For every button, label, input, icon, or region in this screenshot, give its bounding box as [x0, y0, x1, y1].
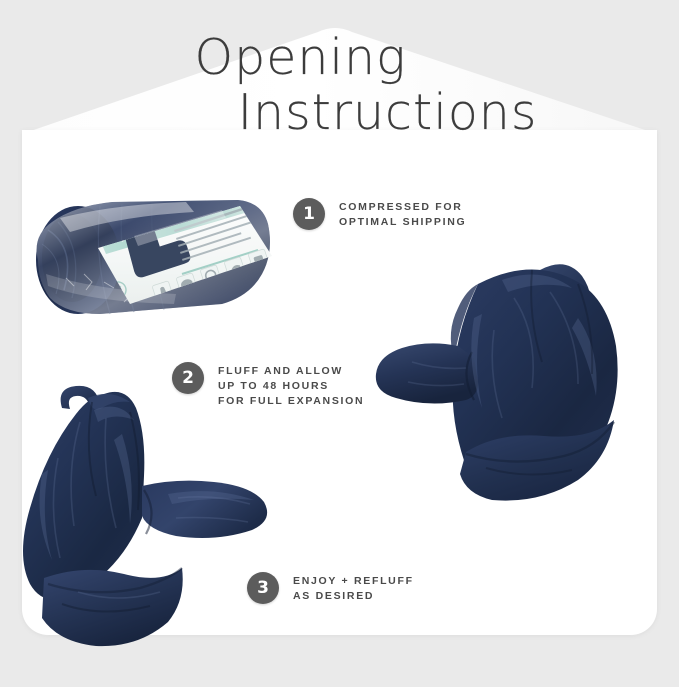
step-1: 1 COMPRESSED FOR OPTIMAL SHIPPING	[293, 198, 466, 230]
step-2-text: FLUFF AND ALLOW UP TO 48 HOURS FOR FULL …	[218, 362, 364, 410]
backdrop-roof	[22, 22, 657, 134]
step-2-line-3: FOR FULL EXPANSION	[218, 394, 364, 409]
infographic-canvas: Opening Instructions	[0, 0, 679, 687]
step-2-badge: 2	[172, 362, 204, 394]
step-1-badge: 1	[293, 198, 325, 230]
step-2-line-1: FLUFF AND ALLOW	[218, 364, 364, 379]
step-1-line-2: OPTIMAL SHIPPING	[339, 215, 466, 230]
step-3-badge: 3	[247, 572, 279, 604]
product-image-expanded-pillow-left	[18, 378, 278, 648]
step-3-line-2: AS DESIRED	[293, 589, 414, 604]
step-2-line-2: UP TO 48 HOURS	[218, 379, 364, 394]
product-image-expanded-pillow-right	[382, 222, 632, 502]
product-image-compressed-package: READING PILLOW	[26, 178, 274, 318]
step-3: 3 ENJOY + REFLUFF AS DESIRED	[247, 572, 414, 604]
step-3-line-1: ENJOY + REFLUFF	[293, 574, 414, 589]
step-3-text: ENJOY + REFLUFF AS DESIRED	[293, 572, 414, 604]
step-1-line-1: COMPRESSED FOR	[339, 200, 466, 215]
step-1-text: COMPRESSED FOR OPTIMAL SHIPPING	[339, 198, 466, 230]
step-2: 2 FLUFF AND ALLOW UP TO 48 HOURS FOR FUL…	[172, 362, 364, 410]
